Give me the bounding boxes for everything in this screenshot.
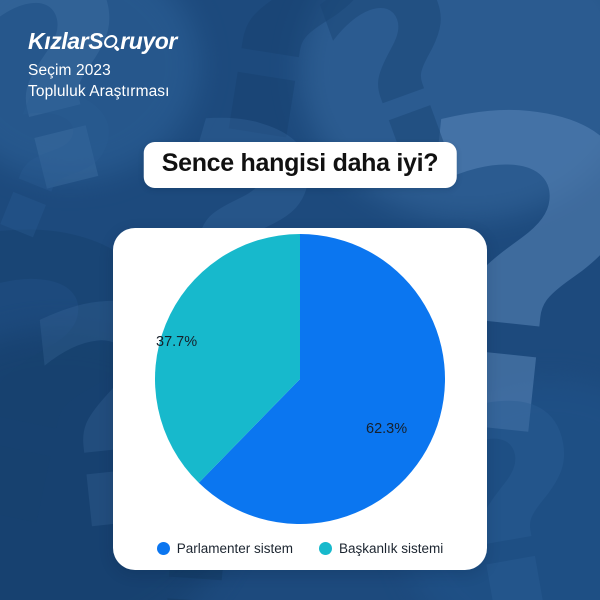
- legend-item-presidential[interactable]: Başkanlık sistemi: [319, 541, 443, 556]
- legend-item-parliament[interactable]: Parlamenter sistem: [157, 541, 293, 556]
- question-mark-glyph: ?: [0, 74, 132, 266]
- legend-label: Parlamenter sistem: [177, 541, 293, 556]
- brand-logo: KızlarS ruyor: [28, 30, 177, 53]
- question-title: Sence hangisi daha iyi?: [162, 150, 439, 178]
- logo-text-second: ruyor: [120, 30, 177, 53]
- magnifier-o-icon: [102, 34, 122, 51]
- brand-subtitle: Seçim 2023 Topluluk Araştırması: [28, 60, 177, 103]
- infographic-canvas: ? ? ? ? ? ? ? ? ? ? KızlarS ruyor Seçim …: [0, 0, 600, 600]
- logo-text-first: KızlarS: [28, 30, 103, 53]
- question-banner: Sence hangisi daha iyi?: [144, 142, 457, 188]
- brand-block: KızlarS ruyor Seçim 2023 Topluluk Araştı…: [28, 30, 177, 103]
- pie-chart: [155, 234, 445, 524]
- subtitle-line-1: Seçim 2023: [28, 60, 177, 81]
- legend-color-dot: [157, 542, 170, 555]
- subtitle-line-2: Topluluk Araştırması: [28, 81, 177, 102]
- pie-label-parliament: 62.3%: [366, 421, 407, 437]
- legend-color-dot: [319, 542, 332, 555]
- chart-card: 37.7% 62.3% Parlamenter sistem Başkanlık…: [113, 228, 487, 570]
- pie-chart-area: 37.7% 62.3%: [113, 228, 487, 524]
- legend-label: Başkanlık sistemi: [339, 541, 443, 556]
- chart-legend: Parlamenter sistem Başkanlık sistemi: [113, 541, 487, 556]
- pie-label-presidential: 37.7%: [156, 334, 197, 350]
